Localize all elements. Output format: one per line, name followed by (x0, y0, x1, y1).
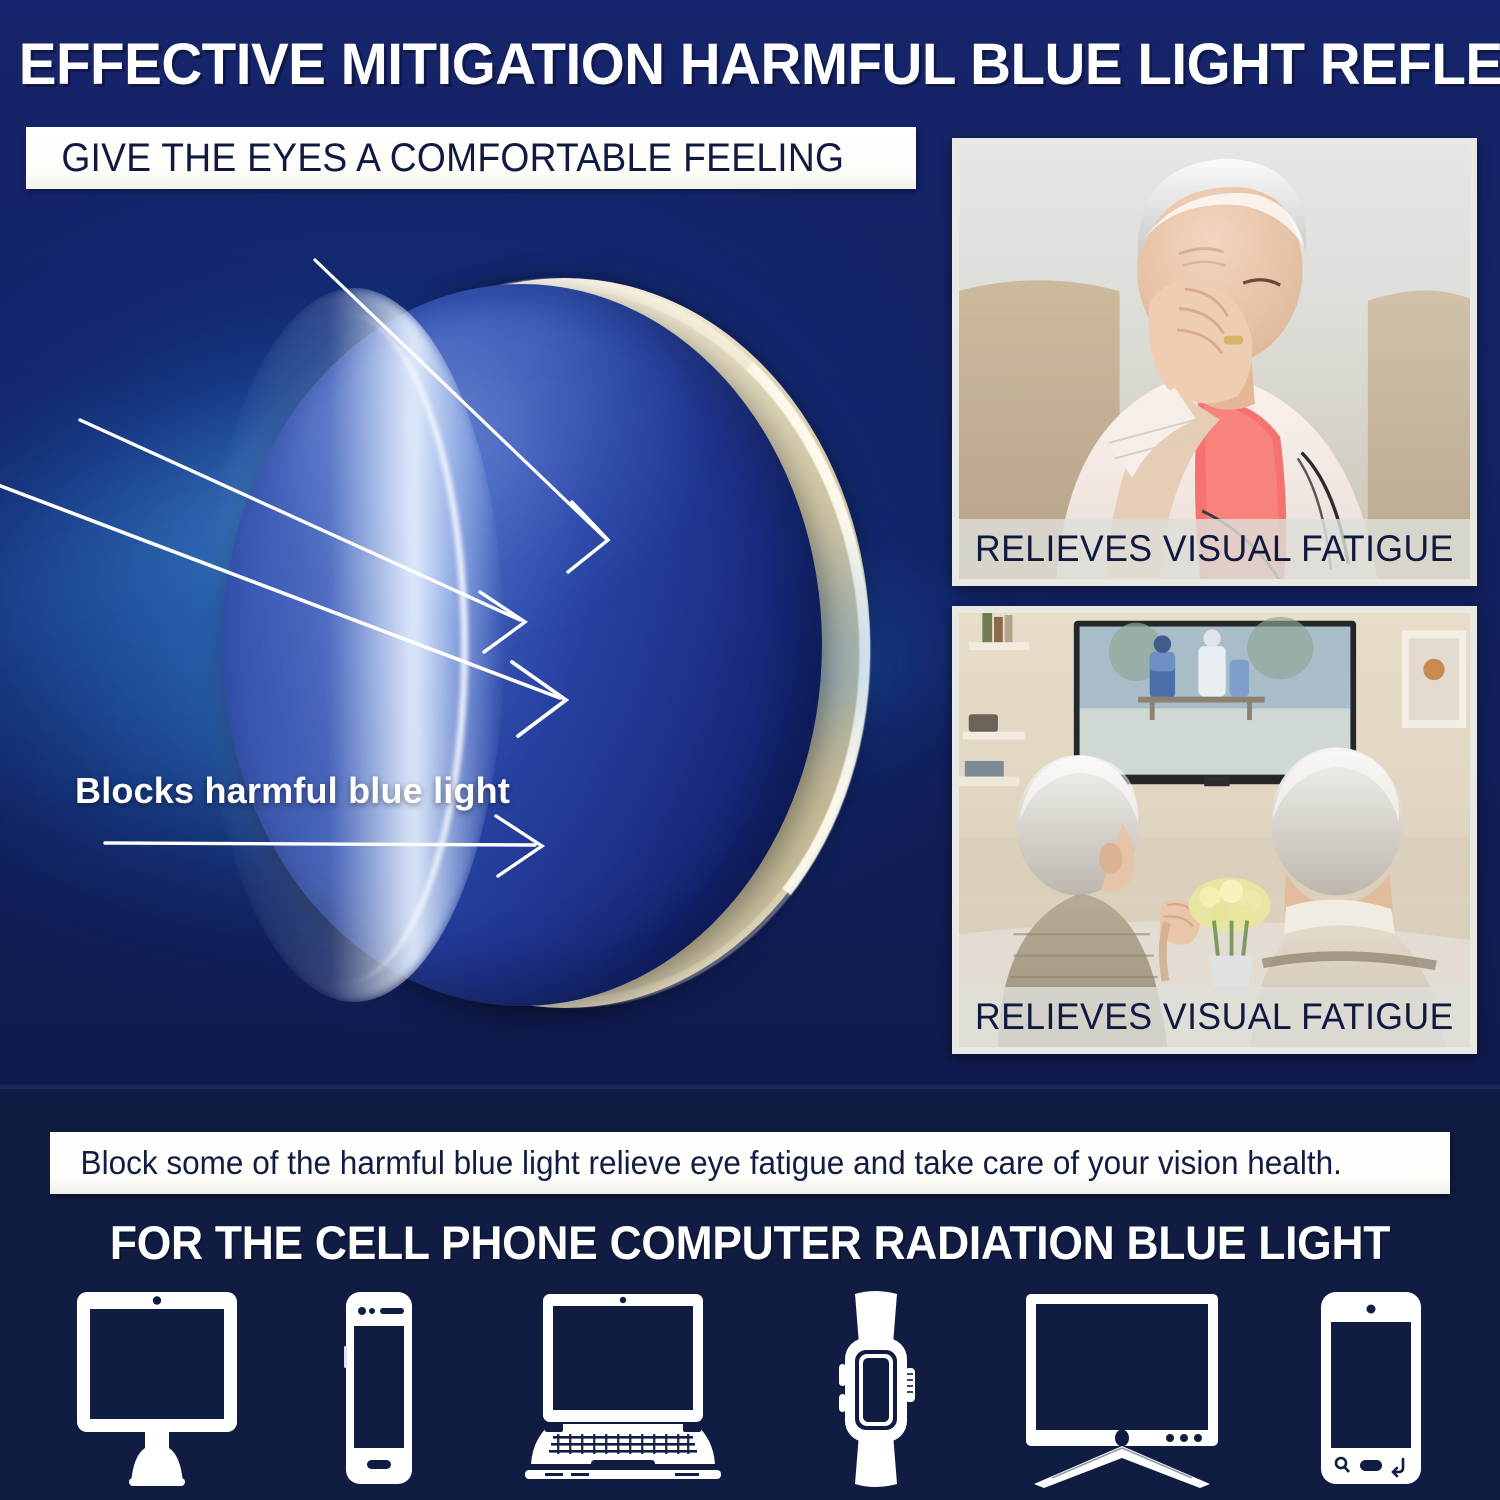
blue-light-arrows-icon (0, 200, 920, 1080)
panel-caption: RELIEVES VISUAL FATIGUE (975, 996, 1454, 1038)
tablet-icon (1315, 1288, 1427, 1488)
subtitle-banner: GIVE THE EYES A COMFORTABLE FEELING (26, 127, 916, 189)
page-title: EFFECTIVE MITIGATION HARMFUL BLUE LIGHT … (19, 36, 1482, 94)
device-icon-row (0, 1278, 1500, 1488)
lens-caption: Blocks harmful blue light (75, 770, 510, 812)
television-icon (1022, 1288, 1222, 1488)
photo-panel-watching-tv: RELIEVES VISUAL FATIGUE (952, 606, 1477, 1054)
senior-couple-watching-tv-photo (959, 613, 1470, 1049)
lens-illustration (0, 200, 920, 1080)
promise-banner: Block some of the harmful blue light rel… (50, 1132, 1450, 1194)
panel-caption-bar: RELIEVES VISUAL FATIGUE (959, 519, 1470, 579)
smartwatch-icon (823, 1288, 929, 1488)
panel-caption: RELIEVES VISUAL FATIGUE (975, 528, 1454, 570)
smartphone-icon (334, 1288, 424, 1488)
promise-text: Block some of the harmful blue light rel… (50, 1144, 1342, 1182)
beam-arrow-3 (0, 485, 566, 736)
panel-caption-bar: RELIEVES VISUAL FATIGUE (959, 987, 1470, 1047)
top-hero-section: EFFECTIVE MITIGATION HARMFUL BLUE LIGHT … (0, 0, 1500, 1085)
beam-arrow-1 (315, 260, 608, 572)
usecase-heading: FOR THE CELL PHONE COMPUTER RADIATION BL… (41, 1219, 1459, 1266)
beam-arrow-2 (80, 420, 525, 652)
subtitle-text: GIVE THE EYES A COMFORTABLE FEELING (26, 136, 844, 181)
desktop-monitor-icon (73, 1288, 241, 1488)
section-divider (0, 1085, 1500, 1089)
photo-panel-visual-fatigue: RELIEVES VISUAL FATIGUE (952, 138, 1477, 586)
beam-arrow-4 (105, 816, 542, 876)
laptop-icon (517, 1288, 729, 1488)
senior-woman-rubbing-eyes-photo (959, 145, 1470, 581)
